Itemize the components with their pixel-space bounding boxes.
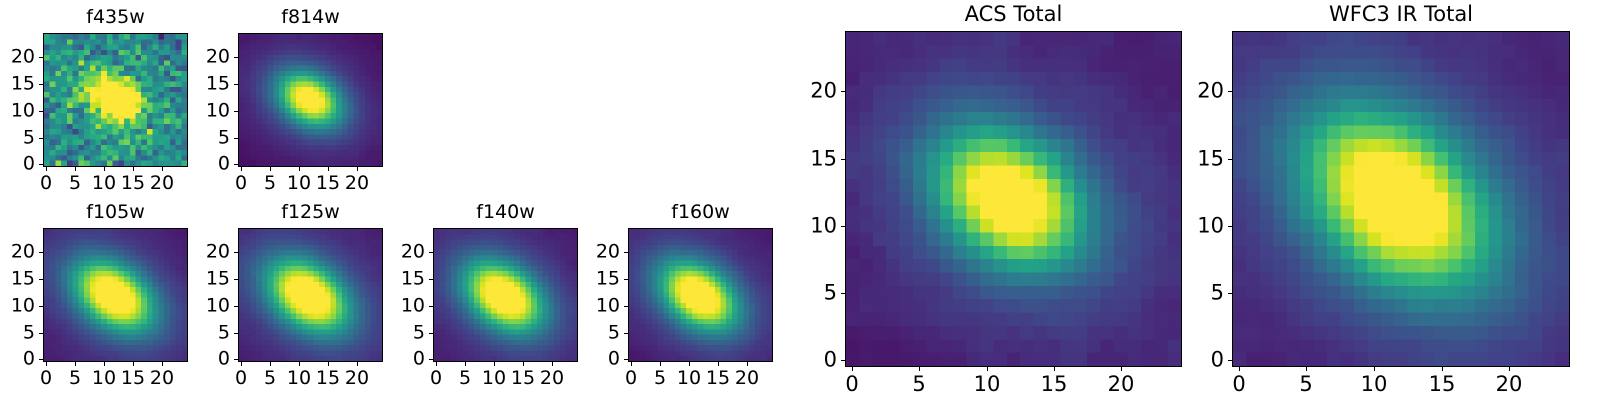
y-tick-wfc3-ir-total-10: [1228, 226, 1232, 227]
x-tick-label-wfc3-ir-total-15: 15: [1429, 374, 1456, 395]
y-tick-label-wfc3-ir-total-20: 20: [1172, 81, 1224, 102]
heatmap-wfc3-ir-total: [1232, 31, 1570, 367]
y-tick-label-wfc3-ir-total-5: 5: [1172, 283, 1224, 304]
panel-title-wfc3-ir-total: WFC3 IR Total: [1232, 4, 1570, 25]
y-tick-label-wfc3-ir-total-10: 10: [1172, 216, 1224, 237]
x-tick-label-wfc3-ir-total-0: 0: [1232, 374, 1245, 395]
x-tick-wfc3-ir-total-5: [1306, 367, 1307, 371]
figure-canvas: f435w0510152005101520f814w05101520051015…: [0, 0, 1600, 400]
panel-wfc3-ir-total: WFC3 IR Total0510152005101520: [0, 0, 1600, 400]
y-tick-label-wfc3-ir-total-0: 0: [1172, 350, 1224, 371]
y-tick-label-wfc3-ir-total-15: 15: [1172, 149, 1224, 170]
y-tick-wfc3-ir-total-15: [1228, 159, 1232, 160]
x-tick-wfc3-ir-total-10: [1374, 367, 1375, 371]
x-tick-wfc3-ir-total-0: [1239, 367, 1240, 371]
y-tick-wfc3-ir-total-5: [1228, 293, 1232, 294]
y-tick-wfc3-ir-total-20: [1228, 91, 1232, 92]
x-tick-wfc3-ir-total-20: [1509, 367, 1510, 371]
y-tick-wfc3-ir-total-0: [1228, 360, 1232, 361]
x-tick-wfc3-ir-total-15: [1442, 367, 1443, 371]
heatmap-canvas-wfc3-ir-total: [1233, 32, 1569, 366]
x-tick-label-wfc3-ir-total-5: 5: [1299, 374, 1312, 395]
x-tick-label-wfc3-ir-total-20: 20: [1496, 374, 1523, 395]
x-tick-label-wfc3-ir-total-10: 10: [1361, 374, 1388, 395]
